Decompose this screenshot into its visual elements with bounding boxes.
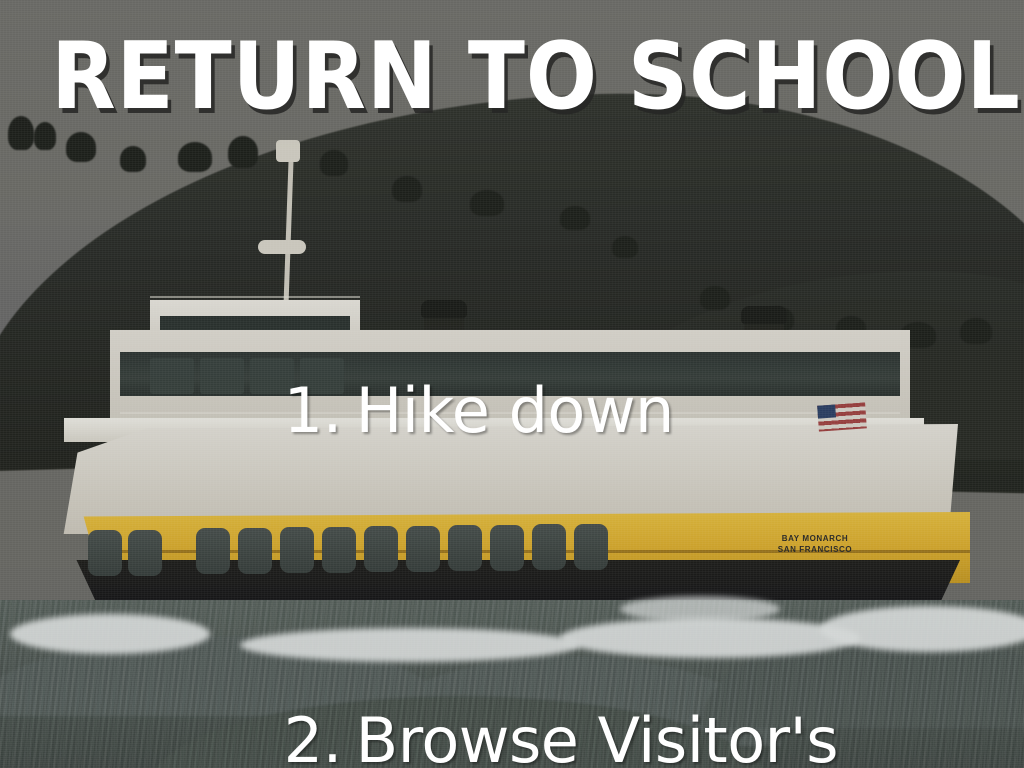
list-item: 1.Hike down — [58, 246, 988, 576]
step-number: 2. — [284, 686, 356, 768]
slide-title: RETURN TO SCHOOL — [51, 28, 973, 124]
step-number: 1. — [284, 356, 356, 466]
slide-text-layer: RETURN TO SCHOOL 1.Hike down 2.Browse Vi… — [0, 0, 1024, 768]
list-item: 2.Browse Visitor's Center — [58, 576, 988, 768]
step-text: Browse Visitor's Center — [130, 704, 857, 768]
presentation-slide: BAY MONARCH SAN FRANCISCO RETURN TO SCHO… — [0, 0, 1024, 768]
step-text: Hike down — [356, 374, 674, 447]
steps-list: 1.Hike down 2.Browse Visitor's Center 3.… — [58, 246, 988, 768]
